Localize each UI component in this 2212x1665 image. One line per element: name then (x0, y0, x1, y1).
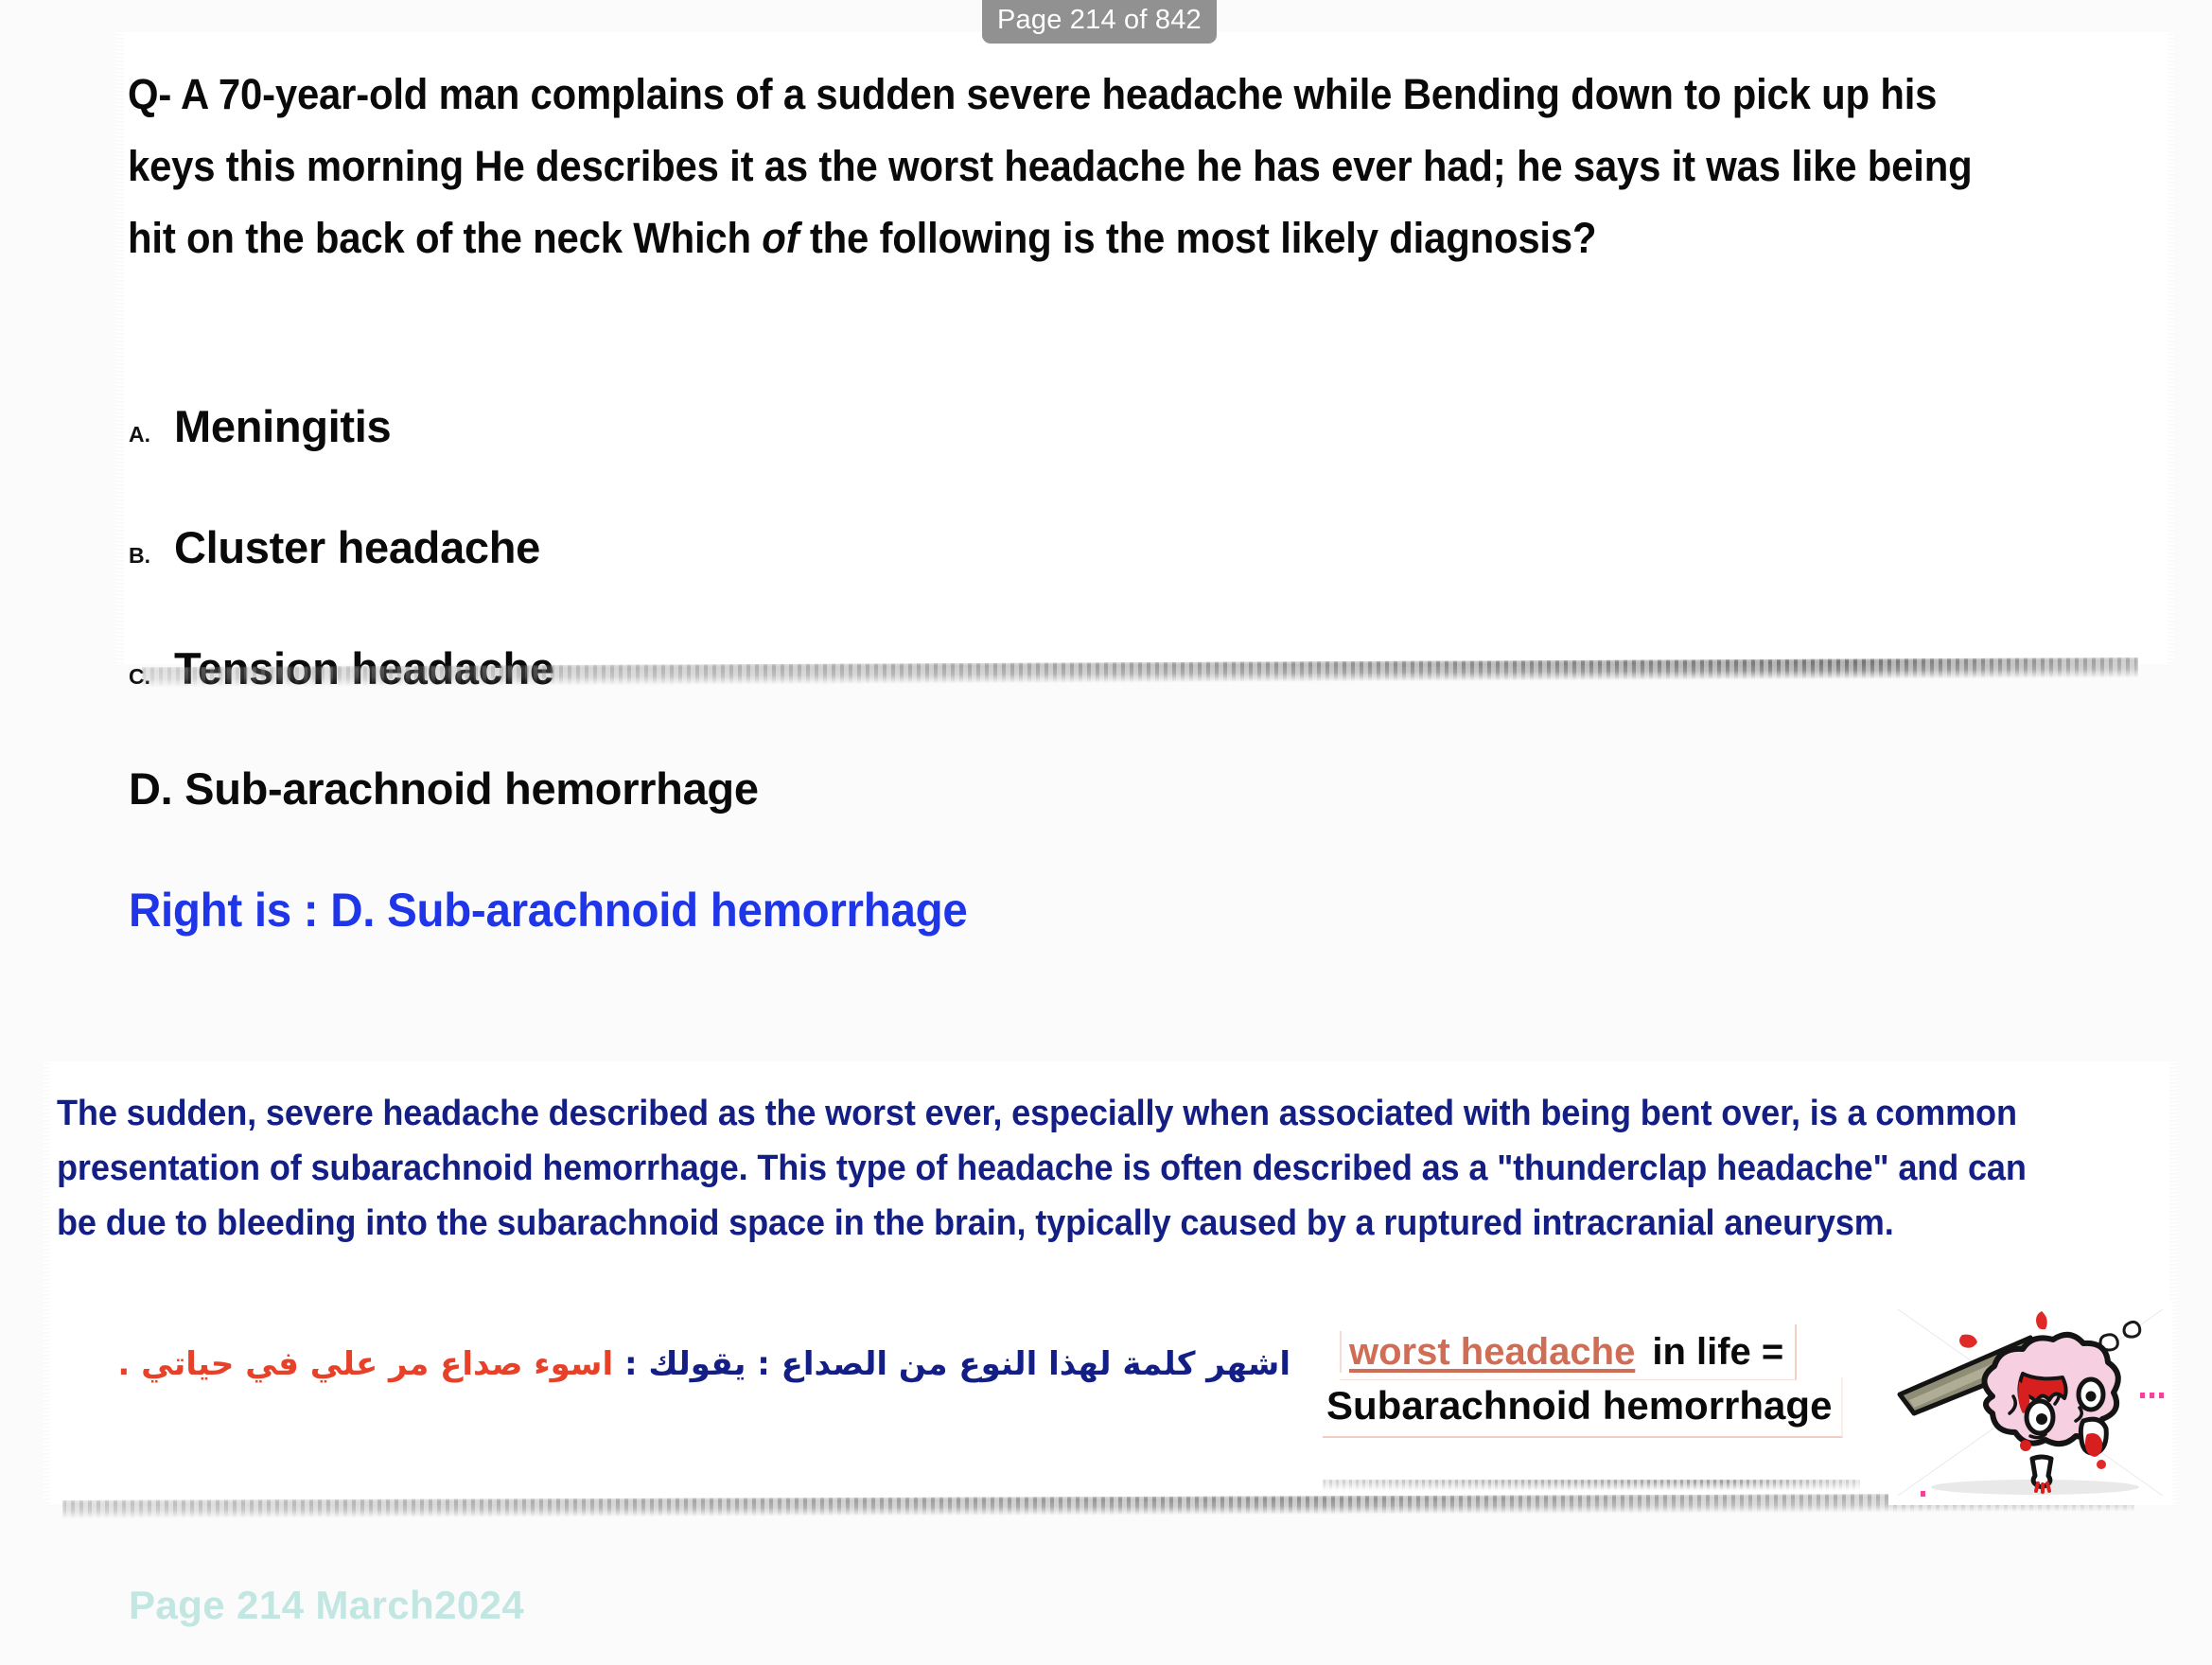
option-a-text: Meningitis (174, 402, 391, 451)
page-footer: Page 214 March2024 (129, 1582, 524, 1629)
arabic-note: اشهر كلمة لهذا النوع من الصداع : يقولك :… (117, 1341, 1290, 1387)
option-b-label: B. (129, 543, 174, 569)
question-stem: Q- A 70-year-old man complains of a sudd… (128, 59, 1984, 274)
correct-answer-line: Right is : D. Sub-arachnoid hemorrhage (129, 884, 967, 937)
arabic-note-quote: اسوء صداع مر علي في حياتي . (117, 1345, 624, 1383)
card-torn-edge-right (2168, 32, 2174, 664)
option-b-text: Cluster headache (174, 523, 540, 572)
page-indicator-badge: Page 214 of 842 (982, 0, 1217, 44)
option-d-text: D. Sub-arachnoid hemorrhage (129, 764, 759, 814)
mnemonic-card: worst headachein life = Subarachnoid hem… (1323, 1313, 1860, 1485)
brain-with-axe-cartoon-icon (1888, 1302, 2172, 1505)
question-stem-italic: of (762, 214, 799, 262)
option-d[interactable]: D. D. Sub-arachnoid hemorrhage (129, 764, 759, 814)
mnemonic-row-top: worst headachein life = (1340, 1324, 1797, 1380)
mnemonic-result: Subarachnoid hemorrhage (1323, 1377, 1843, 1438)
arabic-note-lead: اشهر كلمة لهذا النوع من الصداع : يقولك : (624, 1345, 1290, 1383)
card-torn-edge-left (117, 32, 124, 664)
option-b[interactable]: B. Cluster headache (129, 523, 540, 572)
option-a[interactable]: A. Meningitis (129, 402, 391, 451)
explanation-torn-edge-left (44, 1061, 50, 1504)
explanation-body: The sudden, severe headache described as… (57, 1086, 2034, 1251)
page-viewer: Page 214 of 842 Q- A 70-year-old man com… (0, 0, 2212, 1665)
option-a-label: A. (129, 422, 174, 447)
mnemonic-highlight: worst headache (1340, 1331, 1639, 1373)
mnemonic-connector: in life = (1639, 1331, 1783, 1373)
question-stem-part-2: the following is the most likely diagnos… (799, 214, 1596, 262)
